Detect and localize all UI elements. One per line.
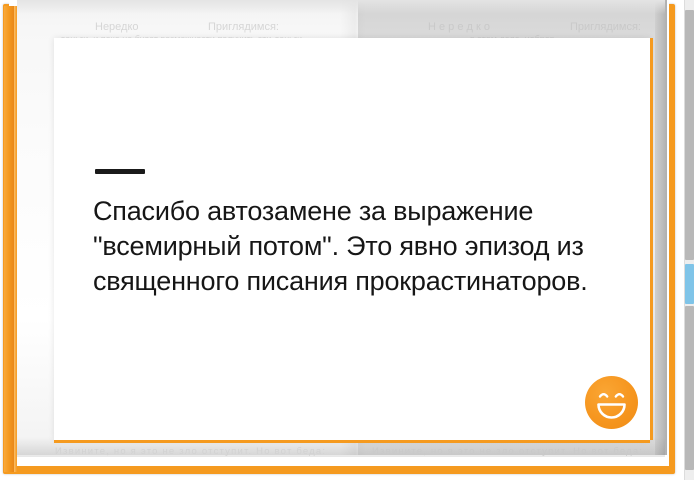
bg-right-footer: Извините, но я это не зло отступит. Но в… xyxy=(372,446,643,457)
scrollbar-thumb-upper[interactable] xyxy=(685,10,694,260)
screenshot-root: Нередко Приглядимся: деньги, и пока не б… xyxy=(0,0,700,480)
quote-card: Спасибо автозамене за выражение "всемирн… xyxy=(54,38,650,440)
card-top-edge xyxy=(54,38,650,42)
scrollbar-thumb-lower[interactable] xyxy=(685,306,694,470)
page-top-curve xyxy=(17,0,665,14)
book-spine-highlight xyxy=(14,6,17,472)
bg-left-footer: Извините, но я это не зло отступит. Но в… xyxy=(55,446,326,457)
laughing-face-glyph xyxy=(585,376,638,429)
bg-right-heading-2: Приглядимся: xyxy=(570,21,641,33)
bg-right-heading-1: Н е р е д к о xyxy=(428,21,490,33)
laughing-face-icon[interactable] xyxy=(585,376,638,429)
book-spine-stripe xyxy=(4,6,14,472)
scrollbar-thumb-highlight[interactable] xyxy=(685,264,694,304)
book-page-edge xyxy=(655,0,667,455)
quote-text: Спасибо автозамене за выражение "всемирн… xyxy=(93,194,623,299)
bg-left-heading-1: Нередко xyxy=(95,21,139,33)
quote-divider-dash xyxy=(95,169,145,174)
bg-left-heading-2: Приглядимся: xyxy=(208,21,279,33)
